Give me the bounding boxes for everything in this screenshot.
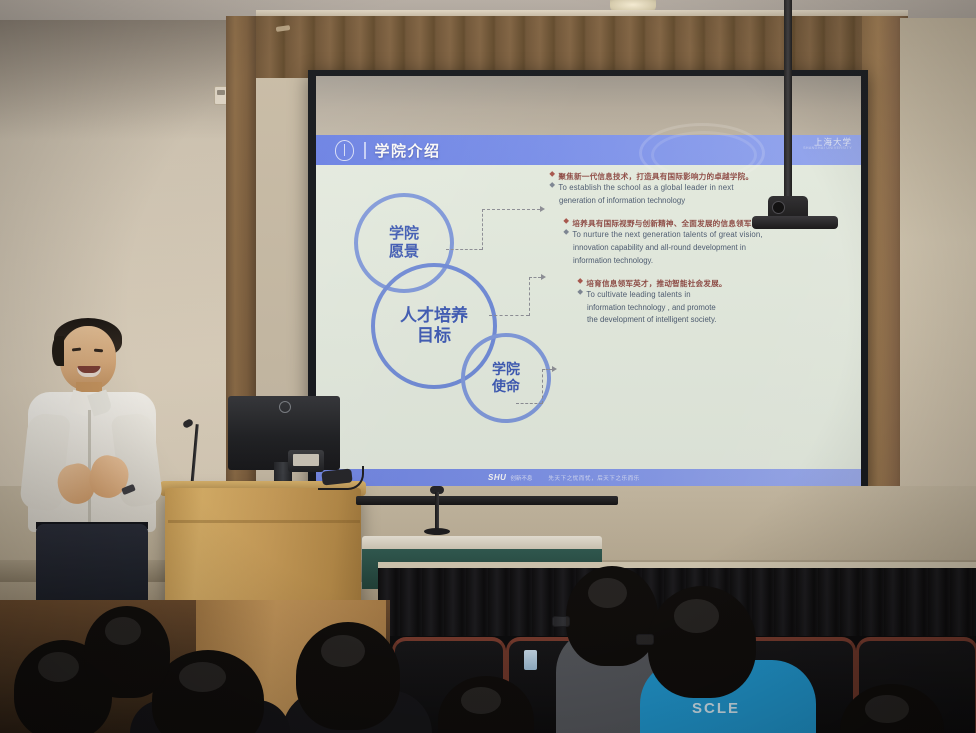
slide-title: 学院介绍 [375,140,441,161]
connector-3-seg2 [542,369,543,404]
connector-2-seg3 [529,277,541,278]
connector-3-seg3 [542,369,552,370]
mission-en-text-1: To cultivate leading talents in [586,289,690,302]
diamond-bullet-icon [577,289,583,295]
slide-footer: SHU 创新不息 先天下之忧而忧，后天下之乐而乐 [316,469,861,486]
audience-glasses [552,616,570,627]
circle-mission: 学院 使命 [461,333,551,423]
wood-soffit-panel [256,16,864,78]
audience-head [566,566,658,666]
talent-en-line1: To nurture the next generation talents o… [564,229,850,242]
speaker-head [60,326,116,390]
mission-en-line1: To cultivate leading talents in [578,289,850,302]
audience-head [648,586,756,698]
dell-logo-icon [279,401,291,413]
diamond-bullet-icon [549,182,555,188]
connector-1-arrow [540,206,545,212]
talent-en-text-1: To nurture the next generation talents o… [572,229,762,242]
lecture-hall-photo: 学院介绍 上海大学 SHANGHAI UNIVERSITY 学院 愿景 [0,0,976,733]
circle-vision-line2: 愿景 [389,243,419,261]
connector-3-arrow [552,366,557,372]
vision-cn-line: 聚焦新一代信息技术，打造具有国际影响力的卓越学院。 [550,171,850,182]
podium-cable [318,466,364,490]
screen-unlit-area [316,76,861,135]
circle-talent-line2: 目标 [400,326,468,346]
circle-talent-line1: 人才培养 [400,306,468,326]
connector-2-seg2 [529,277,530,316]
diamond-bullet-icon [577,278,583,284]
camera-mount-bar [752,216,838,229]
connector-2-seg1 [489,315,529,316]
table-microphone-base [424,528,450,535]
projection-screen: 学院介绍 上海大学 SHANGHAI UNIVERSITY 学院 愿景 [316,76,861,486]
podium-trim-line [168,520,360,523]
connector-3-seg1 [516,403,542,404]
slide-title-bar: 学院介绍 上海大学 SHANGHAI UNIVERSITY [316,135,861,165]
audience-head [84,606,170,698]
mission-cn-line: 培育信息领军英才，推动智能社会发展。 [578,278,850,289]
podium-device-screen [293,454,319,466]
brand-name-en: SHANGHAI UNIVERSITY [803,147,852,151]
audience-tshirt-text: SCLE [692,700,740,717]
vision-cn-text: 聚焦新一代信息技术，打造具有国际影响力的卓越学院。 [558,171,753,182]
circle-mission-line2: 使命 [492,378,520,395]
circle-vision-line1: 学院 [389,225,419,243]
mission-en-text-3: the development of intelligent society. [578,314,850,327]
presentation-slide: 学院介绍 上海大学 SHANGHAI UNIVERSITY 学院 愿景 [316,135,861,486]
shu-footer-sub: 创新不息 [510,474,532,482]
title-divider [364,142,366,159]
vision-en-text-1: To establish the school as a global lead… [558,182,733,195]
shu-footer-logo: SHU [488,473,506,482]
projector-mount-pole [784,0,792,212]
speaker-hair-side [52,336,64,366]
audience-phone-screen [524,650,537,670]
connector-1-seg3 [482,209,540,210]
diamond-bullet-icon [549,171,555,177]
circle-mission-line1: 学院 [492,361,520,378]
camera-lens-icon [772,201,785,214]
text-block-mission: 培育信息领军英才，推动智能社会发展。 To cultivate leading … [550,278,850,327]
side-table [362,536,602,550]
shu-emblem-icon [335,140,354,161]
diamond-bullet-icon [563,218,569,224]
talent-cn-text: 培养具有国际视野与创新精神、全面发展的信息领军人才。 [572,218,775,229]
stage-rail [356,496,618,505]
mission-cn-text: 培育信息领军英才，推动智能社会发展。 [586,278,726,289]
connector-1-seg1 [446,249,482,250]
vision-en-line1: To establish the school as a global lead… [550,182,850,195]
diamond-bullet-icon [563,229,569,235]
talent-en-text-2: innovation capability and all-round deve… [564,242,850,255]
mission-en-text-2: information technology , and promote [578,302,850,315]
table-microphone-stem [435,492,439,530]
speaker [18,318,178,618]
shu-footer-motto: 先天下之忧而忧，后天下之乐而乐 [548,474,640,482]
connector-2-arrow [541,274,546,280]
left-wall-shadow [0,20,252,140]
audience-glasses [636,634,654,645]
audience-head [296,622,400,730]
talent-en-text-3: information technology. [564,255,850,268]
connector-1-seg2 [482,209,483,250]
university-brand: 上海大学 SHANGHAI UNIVERSITY [803,138,852,151]
